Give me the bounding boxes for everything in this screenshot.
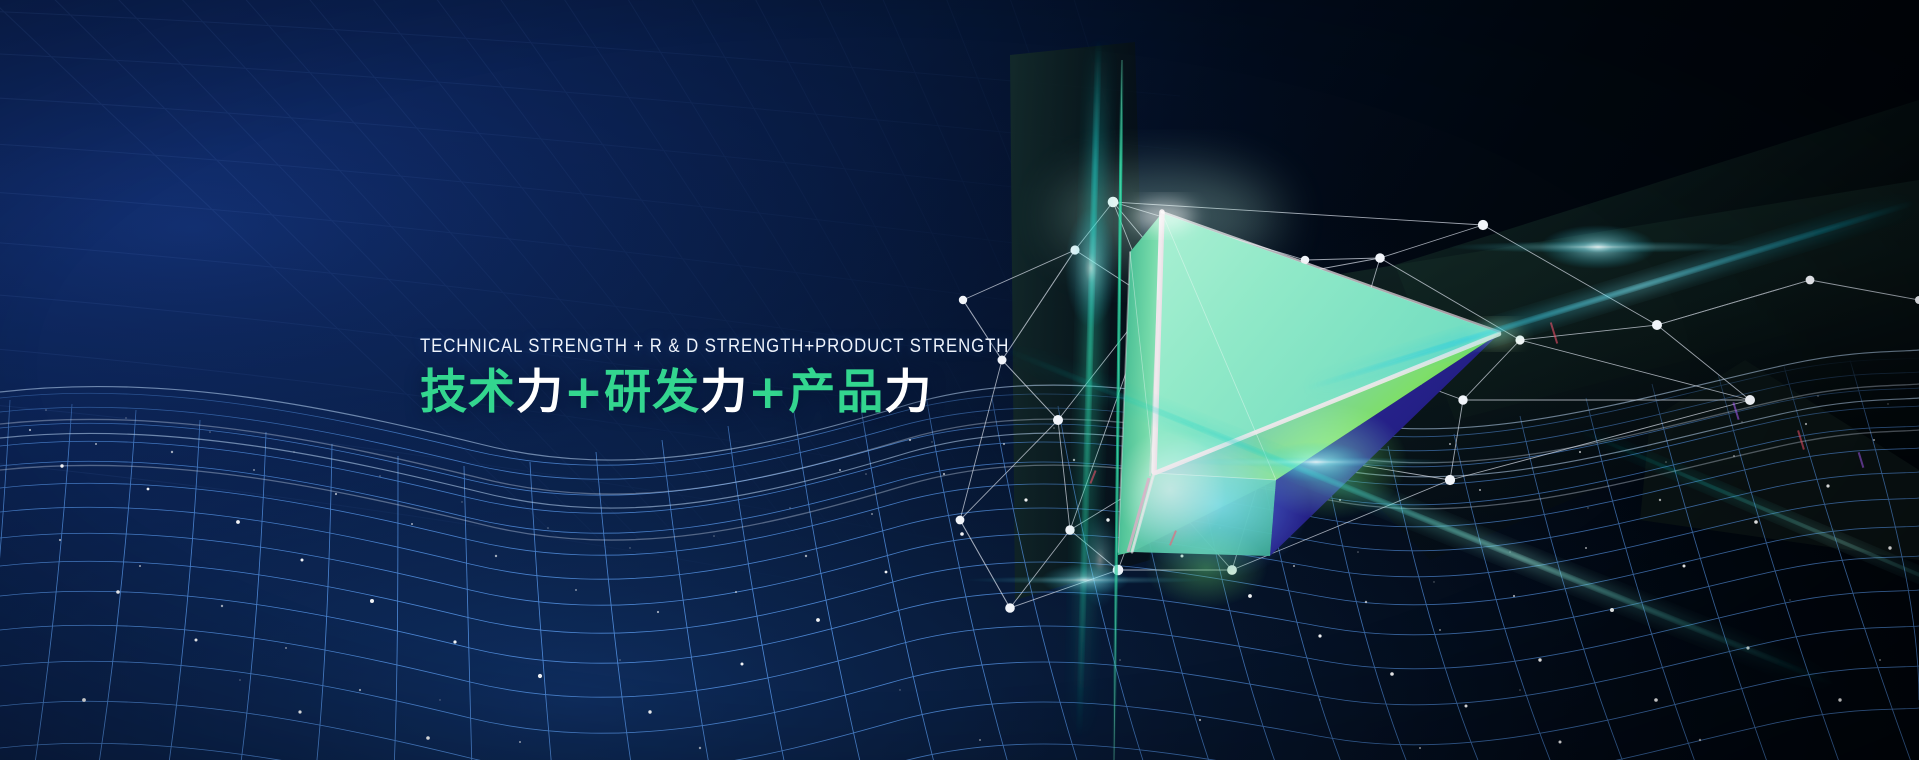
hero-banner: TECHNICAL STRENGTH + R & D STRENGTH+PROD… <box>0 0 1919 760</box>
vignette-overlay <box>0 0 1919 760</box>
